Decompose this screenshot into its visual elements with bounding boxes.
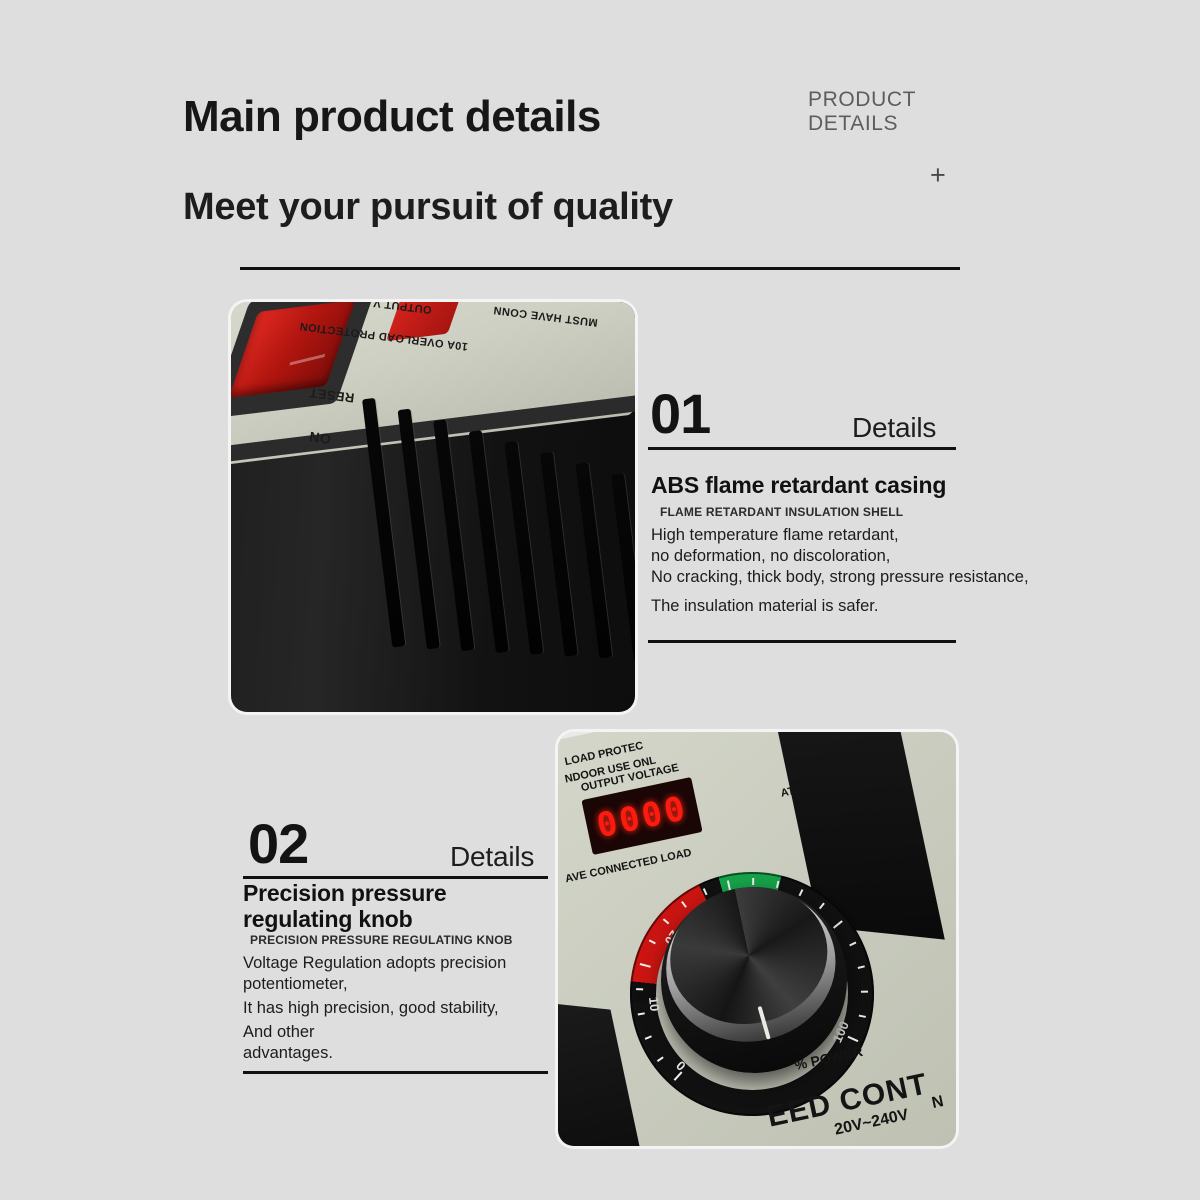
plus-icon: + — [930, 162, 946, 189]
section-01-caption: FLAME RETARDANT INSULATION SHELL — [660, 505, 903, 519]
dial-tick — [752, 878, 754, 885]
dial-tick — [703, 888, 708, 895]
heatsink-fin — [398, 409, 440, 650]
product-photo-knob-inner: 0000 LOAD PROTEC NDOOR USE ONL OUTPUT VO… — [558, 732, 956, 1146]
header-kicker: PRODUCT DETAILS — [808, 88, 916, 135]
dial-tick — [799, 889, 804, 896]
section-details-label-02: Details — [450, 841, 534, 873]
page-subtitle: Meet your pursuit of quality — [183, 186, 673, 229]
dial-tick — [636, 988, 643, 990]
heatsink-fin — [575, 462, 612, 658]
section-02-top-divider — [243, 876, 548, 879]
product-photo-knob[interactable]: 0000 LOAD PROTEC NDOOR USE ONL OUTPUT VO… — [558, 732, 956, 1146]
section-02-title: Precision pressure regulating knob — [243, 880, 447, 933]
heatsink-fin — [611, 473, 635, 660]
dial-tick — [833, 920, 843, 928]
heatsink-fin — [469, 430, 509, 653]
section-01-body-primary: High temperature flame retardant, no def… — [651, 525, 1029, 588]
heatsink-fin — [540, 452, 578, 657]
dial-tick — [663, 918, 670, 924]
product-photo-casing[interactable]: 10A OVERLOAD PROTECTION OUTPUT V MUST HA… — [231, 302, 635, 712]
dial-tick — [819, 902, 825, 909]
header-divider — [240, 267, 960, 270]
section-01-body-secondary: The insulation material is safer. — [651, 596, 878, 617]
dial-tick — [848, 1036, 859, 1042]
dial-tick — [859, 1015, 866, 1018]
section-02-body-tertiary: And other advantages. — [243, 1022, 333, 1064]
dial-tick — [649, 939, 656, 944]
header-kicker-line1: PRODUCT — [808, 88, 916, 112]
section-02-bottom-divider — [243, 1071, 548, 1074]
section-02-caption: PRECISION PRESSURE REGULATING KNOB — [250, 933, 513, 947]
heatsink-fin — [504, 441, 543, 655]
dial-tick — [638, 1012, 645, 1015]
dial-tick — [849, 942, 856, 947]
section-number-02: 02 — [248, 816, 308, 872]
section-02-body-primary: Voltage Regulation adopts precision pote… — [243, 953, 506, 995]
led-digits: 0000 — [593, 787, 691, 844]
dial-tick — [645, 1035, 652, 1040]
dial-tick — [858, 965, 865, 969]
section-01-title: ABS flame retardant casing — [651, 472, 946, 498]
section-01-bottom-divider — [648, 640, 956, 643]
dial-tick — [776, 881, 780, 888]
switch-slot — [289, 354, 325, 366]
page-title: Main product details — [183, 92, 601, 142]
section-details-label-01: Details — [852, 412, 936, 444]
dial-scale-number: 10 — [645, 996, 661, 1012]
heatsink-fins — [362, 363, 635, 712]
label-on: ON — [308, 429, 332, 448]
section-02-body-secondary: It has high precision, good stability, — [243, 998, 499, 1019]
product-photo-casing-inner: 10A OVERLOAD PROTECTION OUTPUT V MUST HA… — [231, 302, 635, 712]
section-01-top-divider — [648, 447, 956, 450]
heatsink-fin — [433, 419, 474, 651]
product-details-page: Main product details PRODUCT DETAILS + M… — [0, 0, 1200, 1200]
dial-tick — [861, 991, 868, 993]
dial-tick — [657, 1056, 664, 1062]
dial-tick — [681, 901, 687, 908]
dial-tick — [640, 963, 651, 968]
section-number-01: 01 — [650, 386, 710, 442]
header-kicker-line2: DETAILS — [808, 112, 916, 136]
